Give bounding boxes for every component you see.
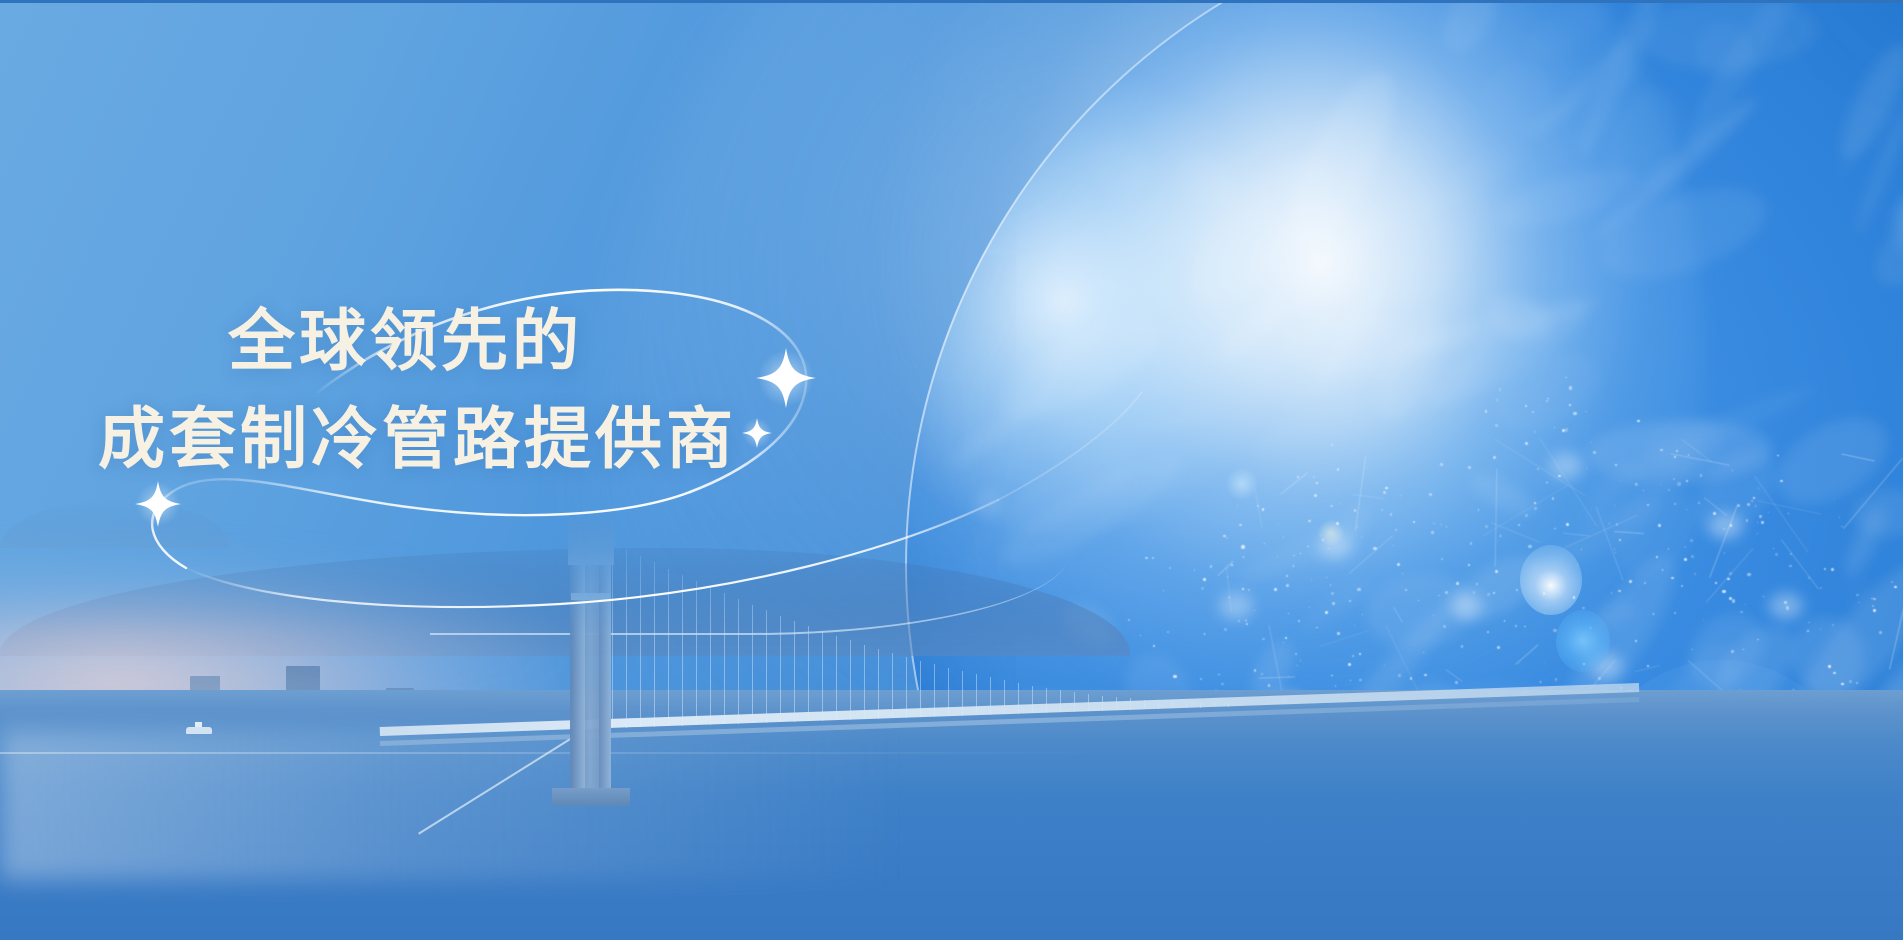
bridge-tower-crossbar xyxy=(571,593,611,600)
bridge-hanger xyxy=(710,588,711,725)
suspension-bridge-icon xyxy=(430,500,1630,790)
bridge-hanger xyxy=(668,569,669,726)
bridge-hanger xyxy=(682,575,683,725)
bridge-hanger xyxy=(696,581,697,725)
bridge-hanger xyxy=(612,542,613,728)
bridge-hanger xyxy=(808,626,809,721)
bridge-tower-top xyxy=(568,519,614,565)
bridge-hanger xyxy=(738,599,739,723)
headline-line-2: 成套制冷管路提供商 xyxy=(98,398,737,482)
bridge-hanger xyxy=(794,621,795,722)
bridge-hanger xyxy=(654,562,655,726)
hero-banner: 全球领先的 成套制冷管路提供商 xyxy=(0,0,1903,940)
boat-icon xyxy=(186,727,212,734)
bridge-pier xyxy=(552,788,630,806)
city-skyline-icon xyxy=(0,500,1903,940)
bridge-hanger xyxy=(724,593,725,724)
bridge-hanger xyxy=(640,556,641,727)
sparkle-star-small-icon xyxy=(742,418,772,448)
sparkle-star-icon xyxy=(756,348,816,408)
bridge-hanger xyxy=(626,549,627,728)
bridge-hanger xyxy=(766,610,767,722)
bridge-hanger xyxy=(850,640,851,720)
headline-line-1: 全球领先的 xyxy=(228,300,737,384)
bridge-hanger xyxy=(780,616,781,723)
top-edge-accent xyxy=(0,0,1903,3)
bridge-hanger xyxy=(752,605,753,723)
bridge-hanger xyxy=(864,645,865,720)
hero-headline: 全球领先的 成套制冷管路提供商 xyxy=(98,300,737,482)
bridge-hanger xyxy=(836,636,837,721)
bridge-hanger xyxy=(878,649,879,719)
bridge-hanger xyxy=(822,631,823,721)
